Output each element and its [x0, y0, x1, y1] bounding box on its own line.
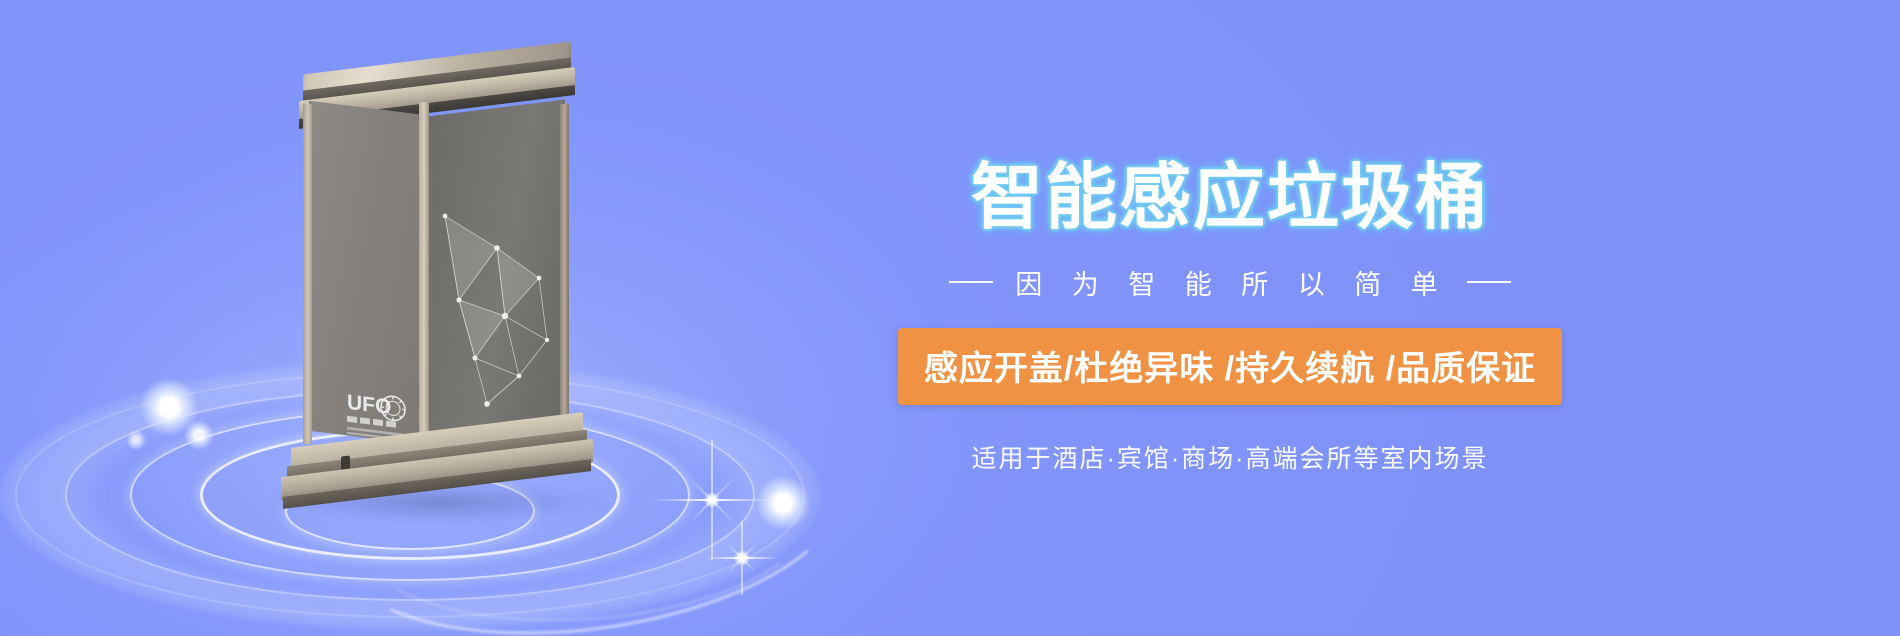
trash-bin-product: UFO: [285, 58, 585, 498]
subline-dash-left: [949, 281, 993, 283]
subline-dash-right: [1467, 281, 1511, 283]
constellation-graphic: [435, 208, 565, 418]
subline-text: 因 为 智 能 所 以 简 单: [1011, 263, 1449, 302]
subline: 因 为 智 能 所 以 简 单: [949, 263, 1511, 302]
product-stage: UFO: [0, 0, 820, 636]
promo-banner: UFO: [0, 0, 1900, 636]
glow-dot-2: [184, 420, 214, 450]
sparkle-core: [734, 550, 750, 566]
feature-bar: 感应开盖/杜绝异味 /持久续航 /品质保证: [898, 328, 1562, 405]
bin-edge-center: [419, 102, 429, 448]
headline: 智能感应垃圾桶: [971, 161, 1489, 237]
sparkle-core: [704, 492, 720, 508]
glow-dot-3: [126, 430, 146, 450]
copy-block: 智能感应垃圾桶 因 为 智 能 所 以 简 单 感应开盖/杜绝异味 /持久续航 …: [880, 0, 1580, 636]
constellation-svg: [435, 208, 565, 418]
glow-dot-4: [756, 476, 810, 530]
bin-edge-left: [303, 103, 312, 444]
scene-line: 适用于酒店·宾馆·商场·高端会所等室内场景: [972, 439, 1489, 475]
